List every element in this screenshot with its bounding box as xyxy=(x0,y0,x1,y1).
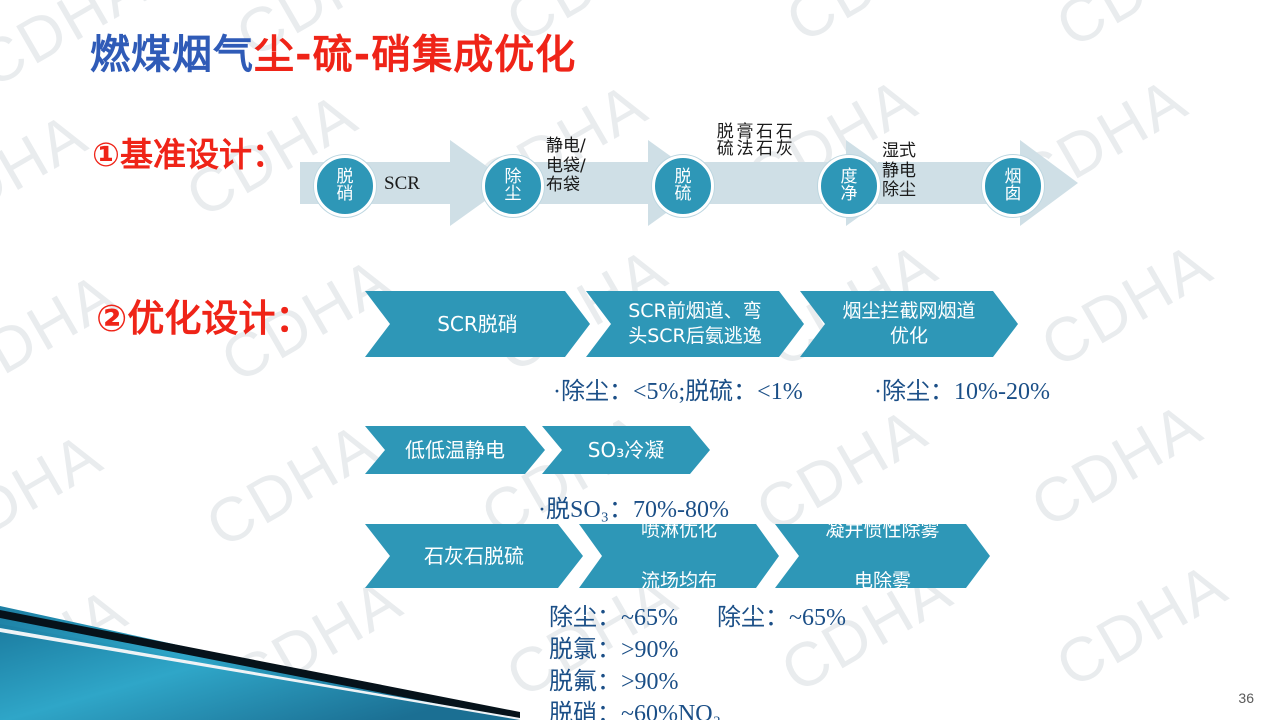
watermark-text: CDHA xyxy=(1045,0,1240,62)
note-row3-denitration: 脱硝：~60%NO₂ xyxy=(549,693,721,720)
note-text: ·除尘：<5%;脱硫：<1% xyxy=(553,379,803,405)
section-label-baseline: ①基准设计： xyxy=(92,128,285,176)
flow-stage-label-1: SCR xyxy=(384,173,420,195)
chevron-label: SO₃冷凝 xyxy=(584,437,668,463)
chevron-scr-denitration[interactable]: SCR脱硝 xyxy=(365,291,590,357)
flow-node-5[interactable]: 烟 囱 xyxy=(982,155,1044,217)
baseline-flow-diagram: 脱 硝 除 尘 脱 硫 度 净 烟 囱 SCR 静电/ 电袋/ 布袋 石灰 石石… xyxy=(300,128,1100,238)
section-label-optimized: ②优化设计： xyxy=(96,288,312,342)
note-row3-dechlorination: 脱氯：>90% xyxy=(549,629,679,664)
watermark-text: CDHA xyxy=(1045,549,1240,702)
watermark-text: CDHA xyxy=(775,0,970,57)
watermark-text: CDHA xyxy=(1020,389,1215,542)
note-text: ·脱SO₃：70%-80% xyxy=(538,497,729,523)
note-row1-b: ·除尘：10%-20% xyxy=(874,371,1050,406)
page-title: 燃煤烟气尘-硫-硝集成优化 xyxy=(90,22,576,80)
note-text: 除尘：~65% xyxy=(549,605,678,631)
optimized-row-1: SCR脱硝 SCR前烟道、弯 头SCR后氨逃逸 烟尘拦截网烟道 优化 xyxy=(365,291,1018,357)
flow-node-4[interactable]: 度 净 xyxy=(818,155,880,217)
corner-decoration xyxy=(0,588,520,720)
watermark-text: CDHA xyxy=(0,99,99,252)
chevron-label: 喷淋优化 流场均布 xyxy=(637,518,721,593)
chevron-label: SCR脱硝 xyxy=(433,311,522,337)
flow-stage-label-3: 石灰 石石 膏法 脱硫 xyxy=(712,122,791,242)
watermark-text: CDHA xyxy=(1030,229,1225,382)
watermark-text: CDHA xyxy=(0,419,114,572)
slide-canvas: CDHA CDHA CDHA CDHA CDHA CDHA CDHA CDHA … xyxy=(0,0,1280,720)
note-row3-dust: 除尘：~65% xyxy=(549,597,678,632)
flow-node-line2: 硫 xyxy=(675,186,692,203)
note-text: 除尘：~65% xyxy=(717,605,846,631)
chevron-label: 低低温静电 xyxy=(401,437,509,463)
watermark-text: CDHA xyxy=(195,409,390,562)
note-row1-a: ·除尘：<5%;脱硫：<1% xyxy=(553,371,803,406)
note-text: 脱氯：>90% xyxy=(549,637,679,663)
flow-stage-label-4: 湿式 静电 除尘 xyxy=(882,142,916,201)
flow-node-line2: 囱 xyxy=(1005,186,1022,203)
chevron-scr-duct-ammonia[interactable]: SCR前烟道、弯 头SCR后氨逃逸 xyxy=(586,291,804,357)
note-row2-a: ·脱SO₃：70%-80% xyxy=(538,489,729,524)
flow-node-3[interactable]: 脱 硫 xyxy=(652,155,714,217)
chevron-low-low-temp-esp[interactable]: 低低温静电 xyxy=(365,426,545,474)
note-text: 脱氟：>90% xyxy=(549,669,679,695)
optimized-row-3: 石灰石脱硫 喷淋优化 流场均布 凝并惯性除雾 电除雾 xyxy=(365,524,990,588)
chevron-label: 凝并惯性除雾 电除雾 xyxy=(821,518,943,593)
flow-node-line2: 净 xyxy=(841,186,858,203)
flow-stage-label-2: 静电/ 电袋/ 布袋 xyxy=(546,137,586,196)
flow-node-2[interactable]: 除 尘 xyxy=(482,155,544,217)
flow-node-line2: 尘 xyxy=(505,186,522,203)
page-number: 36 xyxy=(1238,690,1254,706)
chevron-spray-optimization[interactable]: 喷淋优化 流场均布 xyxy=(579,524,779,588)
chevron-label: 烟尘拦截网烟道 优化 xyxy=(838,299,979,349)
title-part-blue: 燃煤烟气 xyxy=(90,32,254,78)
chevron-inertial-demister[interactable]: 凝并惯性除雾 电除雾 xyxy=(775,524,990,588)
note-row3-defluorination: 脱氟：>90% xyxy=(549,661,679,696)
chevron-so3-condensation[interactable]: SO₃冷凝 xyxy=(542,426,710,474)
chevron-label: 石灰石脱硫 xyxy=(420,543,528,569)
chevron-label: SCR前烟道、弯 头SCR后氨逃逸 xyxy=(624,299,766,349)
flow-node-line2: 硝 xyxy=(337,186,354,203)
chevron-limestone-desulfurization[interactable]: 石灰石脱硫 xyxy=(365,524,583,588)
note-row3-dust-2: 除尘：~65% xyxy=(717,597,846,632)
chevron-dust-screen-duct[interactable]: 烟尘拦截网烟道 优化 xyxy=(800,291,1018,357)
title-part-red: 尘-硫-硝集成优化 xyxy=(254,32,576,78)
optimized-row-2: 低低温静电 SO₃冷凝 xyxy=(365,426,710,474)
note-text: 脱硝：~60%NO₂ xyxy=(549,701,721,720)
note-text: ·除尘：10%-20% xyxy=(874,379,1050,405)
flow-node-1[interactable]: 脱 硝 xyxy=(314,155,376,217)
